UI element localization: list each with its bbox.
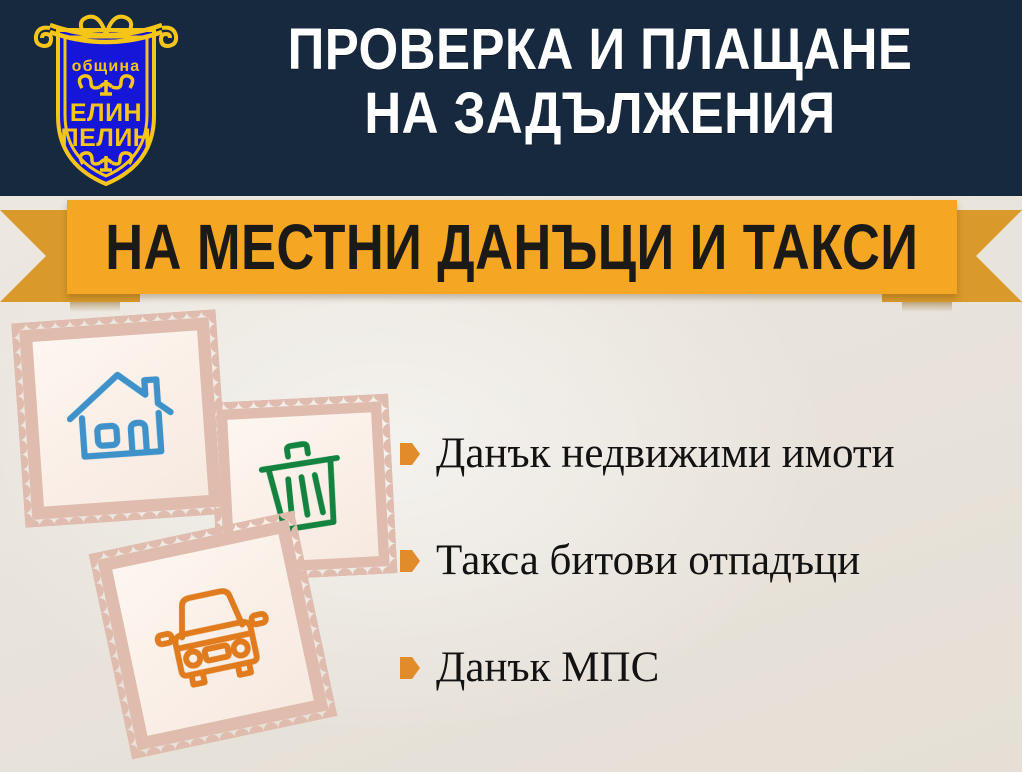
- bullet-arrow-icon: [400, 443, 420, 465]
- subtitle-ribbon: НА МЕСТНИ ДАНЪЦИ И ТАКСИ: [0, 196, 1022, 308]
- ribbon-band: НА МЕСТНИ ДАНЪЦИ И ТАКСИ: [67, 200, 957, 294]
- ribbon-shadow-left: [70, 302, 120, 312]
- crest-word-top: община: [72, 58, 141, 75]
- crest-word-line1: ЕЛИН: [70, 99, 142, 127]
- bullet-arrow-icon: [400, 657, 420, 679]
- list-item[interactable]: Данък МПС: [400, 632, 1010, 704]
- page-title: ПРОВЕРКА И ПЛАЩАНЕ НА ЗАДЪЛЖЕНИЯ: [239, 18, 961, 146]
- list-item-label: Данък недвижими имоти: [436, 430, 895, 478]
- ribbon-label: НА МЕСТНИ ДАНЪЦИ И ТАКСИ: [105, 215, 918, 279]
- stamp-card-house: [11, 309, 230, 528]
- list-item[interactable]: Такса битови отпадъци: [400, 525, 1010, 597]
- stamp-card-car: [88, 510, 337, 759]
- tax-type-list: Данък недвижими имоти Такса битови отпад…: [400, 418, 1010, 739]
- house-icon: [54, 354, 187, 482]
- list-item[interactable]: Данък недвижими имоти: [400, 418, 1010, 490]
- header-banner: община ЕЛИН ПЕЛИН: [0, 0, 1022, 196]
- crest-svg: община ЕЛИН ПЕЛИН: [30, 8, 182, 190]
- ribbon-shadow-right: [902, 302, 952, 312]
- poster-canvas: община ЕЛИН ПЕЛИН: [0, 0, 1022, 772]
- crest-word-line2: ПЕЛИН: [61, 124, 152, 152]
- list-item-label: Такса битови отпадъци: [436, 537, 860, 585]
- bullet-arrow-icon: [400, 550, 420, 572]
- municipality-crest-logo: община ЕЛИН ПЕЛИН: [30, 8, 182, 190]
- list-item-label: Данък МПС: [436, 644, 659, 692]
